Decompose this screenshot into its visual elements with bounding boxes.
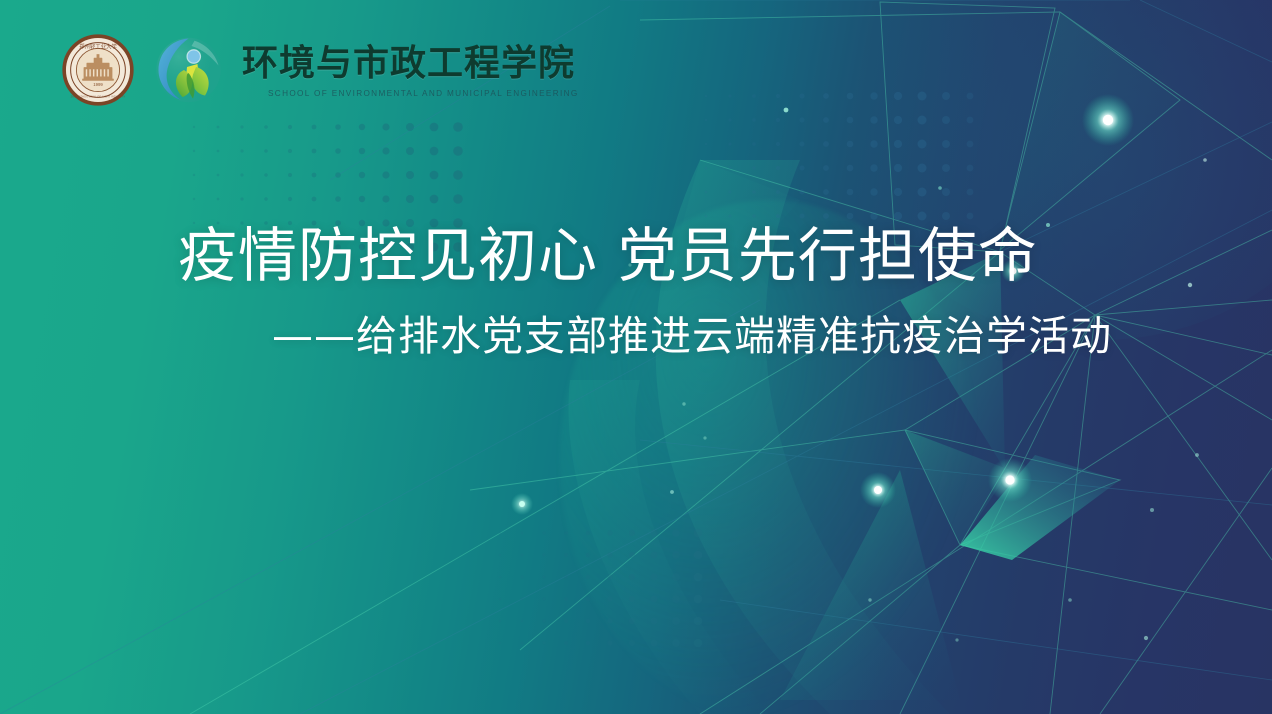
svg-text:1999: 1999 bbox=[93, 82, 103, 87]
title-block: 疫情防控见初心 党员先行担使命 ——给排水党支部推进云端精准抗疫治学活动 bbox=[0, 222, 1272, 362]
school-name-block: 环境与市政工程学院 SCHOOL OF ENVIRONMENTAL AND MU… bbox=[242, 42, 579, 98]
sparkle-particles bbox=[628, 108, 1206, 642]
dot-grid-lower bbox=[499, 529, 703, 648]
title-slide: 郑州轻工业大学 ZHENGZHOU UNIV. OF LIGHT INDUSTR… bbox=[0, 0, 1272, 714]
dot-grid-right bbox=[705, 92, 974, 221]
school-name-en: SCHOOL OF ENVIRONMENTAL AND MUNICIPAL EN… bbox=[268, 89, 579, 98]
sub-title: ——给排水党支部推进云端精准抗疫治学活动 bbox=[0, 312, 1272, 361]
main-title: 疫情防控见初心 党员先行担使命 bbox=[0, 222, 1272, 290]
university-seal-icon: 郑州轻工业大学 ZHENGZHOU UNIV. OF LIGHT INDUSTR… bbox=[62, 34, 134, 106]
school-name-cn: 环境与市政工程学院 bbox=[242, 42, 579, 86]
eco-leaf-circle-icon bbox=[152, 34, 228, 106]
svg-text:ZHENGZHOU UNIV. OF LIGHT INDUS: ZHENGZHOU UNIV. OF LIGHT INDUSTRY bbox=[71, 94, 126, 98]
branding-header: 郑州轻工业大学 ZHENGZHOU UNIV. OF LIGHT INDUSTR… bbox=[62, 34, 579, 106]
